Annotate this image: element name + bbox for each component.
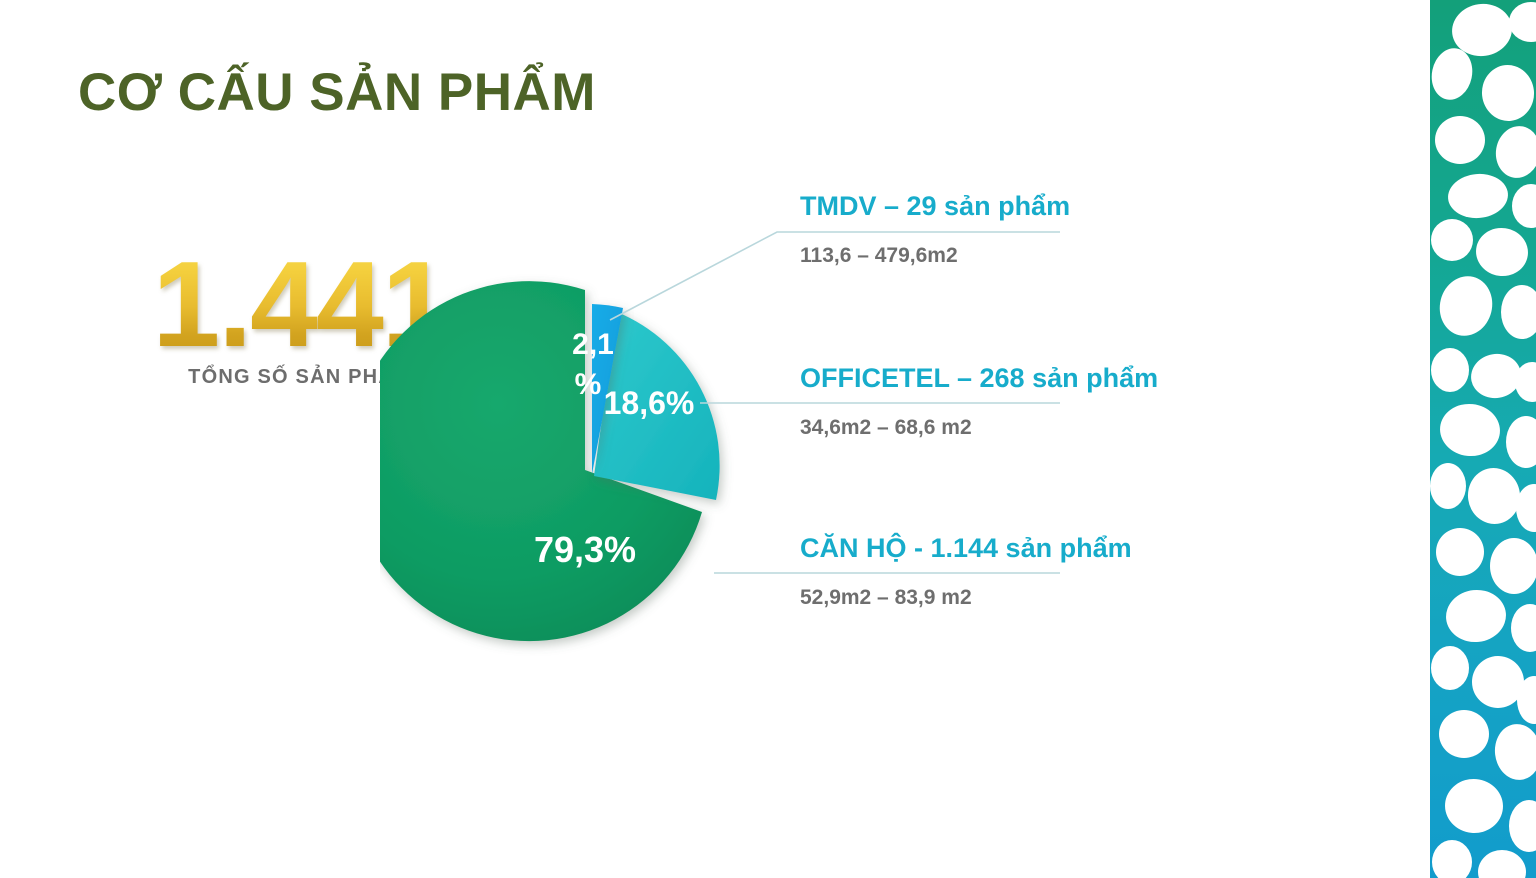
callout-officetel: OFFICETEL – 268 sản phẩm 34,6m2 – 68,6 m… xyxy=(800,363,1158,440)
callout-can-ho-subtitle: 52,9m2 – 83,9 m2 xyxy=(800,585,1132,610)
cell-pattern-svg xyxy=(1430,0,1536,878)
pie-label-officetel: 18,6% xyxy=(604,385,695,421)
callout-tmdv-subtitle: 113,6 – 479,6m2 xyxy=(800,243,1070,268)
pie-label-can-ho: 79,3% xyxy=(534,529,636,570)
callout-officetel-title: OFFICETEL – 268 sản phẩm xyxy=(800,363,1158,394)
callout-can-ho: CĂN HỘ - 1.144 sản phẩm 52,9m2 – 83,9 m2 xyxy=(800,533,1132,610)
callout-tmdv-title: TMDV – 29 sản phẩm xyxy=(800,191,1070,222)
callout-tmdv: TMDV – 29 sản phẩm 113,6 – 479,6m2 xyxy=(800,191,1070,268)
pie-label-tmdv-line2: % xyxy=(575,368,602,401)
page-title: CƠ CẤU SẢN PHẨM xyxy=(78,64,596,122)
organic-cell-pattern-decoration xyxy=(1430,0,1536,878)
product-structure-pie-chart: 79,3% 18,6% 2,1 % xyxy=(380,262,800,682)
pie-label-tmdv-line1: 2,1 xyxy=(572,328,614,361)
callout-officetel-subtitle: 34,6m2 – 68,6 m2 xyxy=(800,415,1158,440)
pie-svg: 79,3% 18,6% 2,1 % xyxy=(380,262,800,682)
slide-canvas: CƠ CẤU SẢN PHẨM 1.441 TỔNG SỐ SẢN PHẨM xyxy=(0,0,1536,878)
callout-can-ho-title: CĂN HỘ - 1.144 sản phẩm xyxy=(800,533,1132,564)
